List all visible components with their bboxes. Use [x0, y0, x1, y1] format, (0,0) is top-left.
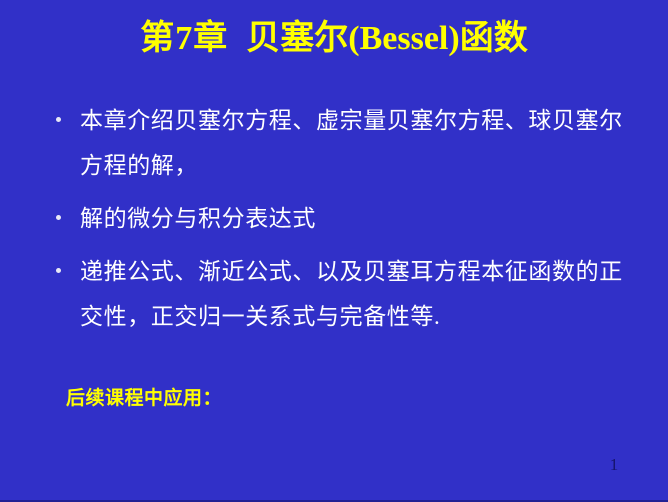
page-title-chapter: 第7章 [140, 20, 228, 57]
page-number: 1 [603, 455, 625, 475]
bullet-dot-icon [56, 117, 61, 122]
bullet-list: 本章介绍贝塞尔方程、虚宗量贝塞尔方程、球贝塞尔方程的解， 解的微分与积分表达式 … [48, 98, 628, 339]
subnote-text: 后续课程中应用： [66, 386, 222, 412]
page-title-subject: 贝塞尔(Bessel)函数 [246, 20, 527, 57]
list-item-label: 递推公式、渐近公式、以及贝塞耳方程本征函数的正交性，正交归一关系式与完备性等. [80, 249, 628, 339]
list-item: 本章介绍贝塞尔方程、虚宗量贝塞尔方程、球贝塞尔方程的解， [48, 98, 628, 188]
list-item-label: 本章介绍贝塞尔方程、虚宗量贝塞尔方程、球贝塞尔方程的解， [80, 98, 628, 188]
page-title: 第7章贝塞尔(Bessel)函数 [0, 16, 668, 62]
bullet-dot-icon [56, 215, 61, 220]
bullet-dot-icon [56, 268, 61, 273]
list-item: 解的微分与积分表达式 [48, 196, 628, 241]
list-item: 递推公式、渐近公式、以及贝塞耳方程本征函数的正交性，正交归一关系式与完备性等. [48, 249, 628, 339]
list-item-label: 解的微分与积分表达式 [80, 196, 628, 241]
presentation-slide: 第7章贝塞尔(Bessel)函数 本章介绍贝塞尔方程、虚宗量贝塞尔方程、球贝塞尔… [0, 0, 668, 502]
